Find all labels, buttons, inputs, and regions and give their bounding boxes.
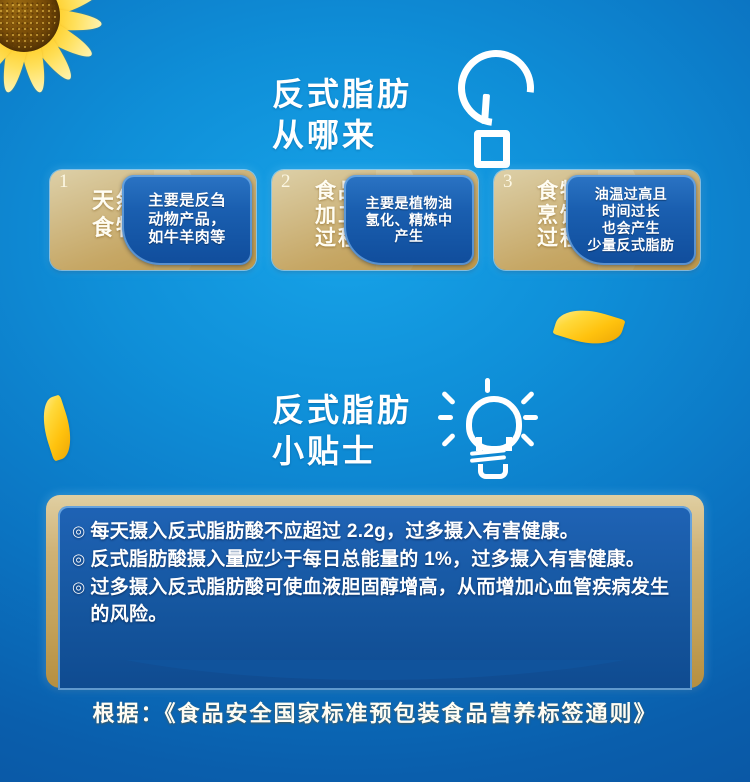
sunflower-icon <box>0 0 114 106</box>
card-detail-text: 主要是反刍 动物产品， 如牛羊肉等 <box>148 192 226 249</box>
bullet-icon: ◎ <box>72 547 85 574</box>
card-detail-panel: 主要是植物油 氢化、精炼中 产生 <box>344 175 474 265</box>
source-card-3[interactable]: 3 食物 烹饪 过程 油温过高且 时间过长 也会产生 少量反式脂肪 <box>494 170 700 270</box>
floating-petal-icon <box>35 395 79 462</box>
page-title-line2: 从哪来 <box>272 115 412 156</box>
card-detail-line: 主要是反刍 <box>148 192 226 211</box>
card-detail-line: 氢化、精炼中 <box>366 212 453 229</box>
tip-text: 反式脂肪酸摄入量应少于每日总能量的 1%，过多摄入有害健康。 <box>90 547 678 574</box>
source-card-1[interactable]: 1 天然 食物 主要是反刍 动物产品， 如牛羊肉等 <box>50 170 256 270</box>
bullet-icon: ◎ <box>72 519 85 546</box>
infographic-stage: 反式脂肪 从哪来 1 天然 食物 主要是反刍 动物产品， 如牛羊肉等 <box>0 0 750 782</box>
card-detail-line: 时间过长 <box>588 203 675 220</box>
source-cards: 1 天然 食物 主要是反刍 动物产品， 如牛羊肉等 2 食品 加工 过程 <box>50 170 700 270</box>
tips-title-line1: 反式脂肪 <box>272 390 412 431</box>
tip-item: ◎ 每天摄入反式脂肪酸不应超过 2.2g，过多摄入有害健康。 <box>72 519 678 546</box>
card-detail-text: 油温过高且 时间过长 也会产生 少量反式脂肪 <box>588 186 675 253</box>
card-detail-panel: 主要是反刍 动物产品， 如牛羊肉等 <box>122 175 252 265</box>
card-detail-line: 如牛羊肉等 <box>148 229 226 248</box>
bullet-icon: ◎ <box>72 575 85 629</box>
card-detail-line: 少量反式脂肪 <box>588 237 675 254</box>
footer-ribbon: 根据：《食品安全国家标准预包装食品营养标签通则》 <box>46 660 704 758</box>
card-detail-line: 产生 <box>366 228 453 245</box>
card-detail-panel: 油温过高且 时间过长 也会产生 少量反式脂肪 <box>566 175 696 265</box>
tips-title: 反式脂肪 小贴士 <box>272 390 412 472</box>
floating-petal-icon <box>552 301 625 353</box>
card-detail-line: 主要是植物油 <box>366 195 453 212</box>
tip-item: ◎ 过多摄入反式脂肪酸可使血液胆固醇增高，从而增加心血管疾病发生的风险。 <box>72 575 678 629</box>
page-title: 反式脂肪 从哪来 <box>272 74 412 156</box>
card-detail-line: 动物产品， <box>148 211 226 230</box>
card-detail-line: 油温过高且 <box>588 186 675 203</box>
page-title-line1: 反式脂肪 <box>272 74 412 115</box>
tip-text: 过多摄入反式脂肪酸可使血液胆固醇增高，从而增加心血管疾病发生的风险。 <box>90 575 678 629</box>
footer-source-note: 根据：《食品安全国家标准预包装食品营养标签通则》 <box>46 696 704 728</box>
tip-item: ◎ 反式脂肪酸摄入量应少于每日总能量的 1%，过多摄入有害健康。 <box>72 547 678 574</box>
source-card-2[interactable]: 2 食品 加工 过程 主要是植物油 氢化、精炼中 产生 <box>272 170 478 270</box>
card-detail-text: 主要是植物油 氢化、精炼中 产生 <box>366 195 453 245</box>
card-detail-line: 也会产生 <box>588 220 675 237</box>
tips-title-line2: 小贴士 <box>272 431 412 472</box>
question-mark-icon <box>452 48 528 160</box>
lightbulb-icon <box>440 382 536 480</box>
tip-text: 每天摄入反式脂肪酸不应超过 2.2g，过多摄入有害健康。 <box>90 519 678 546</box>
